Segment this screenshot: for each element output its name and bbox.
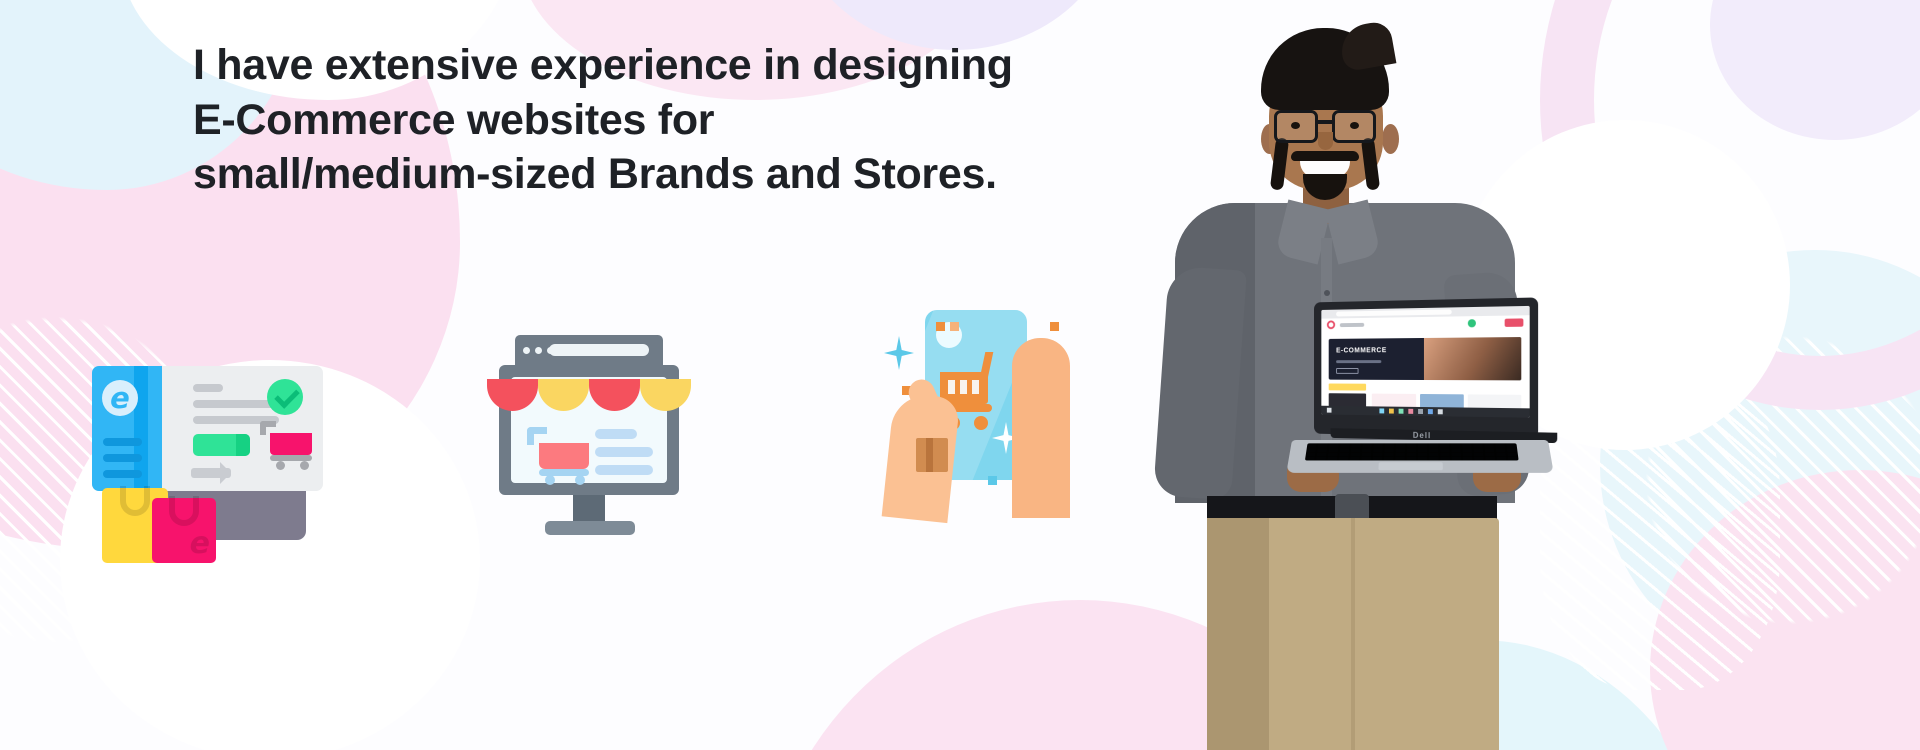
site-navbar: [1321, 315, 1529, 334]
sparkle-icon: [884, 336, 914, 370]
content-line: [193, 400, 279, 408]
accent-square: [988, 476, 997, 485]
browser-dot: [523, 347, 530, 354]
arrow-icon: [191, 468, 231, 478]
monitor-stand: [573, 495, 605, 523]
status-dot-icon: [1468, 319, 1476, 327]
shopping-cart-icon: [527, 427, 589, 479]
hand-right: [1012, 338, 1070, 518]
heading-line-3: small/medium-sized Brands and Stores.: [193, 147, 1113, 202]
page-title: I have extensive experience in designing…: [193, 38, 1113, 202]
online-storefront-illustration: [487, 335, 692, 540]
accent-square: [950, 322, 959, 331]
storefront-text-line: [595, 429, 637, 439]
glasses-bridge: [1315, 120, 1335, 124]
laptop-keyboard[interactable]: [1305, 443, 1519, 460]
trousers-seam: [1351, 518, 1355, 750]
browser-url-bar[interactable]: [549, 344, 649, 356]
shopping-cart-icon: [260, 421, 312, 469]
storefront-text-line: [595, 465, 653, 475]
os-taskbar: [1321, 406, 1529, 418]
storefront-text-line: [595, 447, 653, 457]
mobile-shopping-illustration: [880, 300, 1080, 515]
heading-line-1: I have extensive experience in designing: [193, 38, 1113, 93]
ear-right: [1382, 124, 1399, 154]
sidebar-menu-item: [103, 470, 142, 478]
banner-subtitle: [1336, 360, 1381, 363]
nose: [1318, 132, 1333, 150]
brand-e-icon: e: [102, 380, 138, 416]
shopping-bag-pink: e: [152, 498, 216, 563]
browser-address-bar[interactable]: [1336, 309, 1452, 316]
sidebar-menu-item: [103, 438, 142, 446]
heading-line-2: E-Commerce websites for: [193, 93, 1113, 148]
site-promo-strip: [1329, 384, 1366, 391]
awning-icon: [487, 363, 691, 411]
laptop-device: E-COMMERCE: [1290, 300, 1550, 480]
accent-square: [1050, 322, 1059, 331]
site-cta-button[interactable]: [1505, 318, 1524, 327]
site-logo-icon: [1327, 320, 1335, 329]
laptop-base: [1286, 440, 1553, 473]
content-line: [193, 384, 223, 392]
site-hero-banner: E-COMMERCE: [1329, 337, 1522, 380]
check-badge-icon: [267, 379, 303, 415]
shop-dashboard-illustration: e e: [78, 358, 323, 563]
site-nav-link[interactable]: [1340, 323, 1364, 327]
eye-right: [1350, 122, 1359, 129]
moustache: [1291, 151, 1359, 161]
sidebar-menu-item: [103, 454, 142, 462]
laptop-lid: E-COMMERCE: [1314, 297, 1538, 438]
laptop-trackpad[interactable]: [1378, 462, 1443, 470]
eye-left: [1291, 122, 1300, 129]
monitor-foot: [545, 521, 635, 535]
banner-cta-button[interactable]: [1336, 368, 1358, 374]
browser-dot: [535, 347, 542, 354]
package-box-icon: [916, 438, 948, 472]
accent-square: [936, 322, 945, 331]
arm-left: [1153, 266, 1247, 501]
hair-quiff: [1338, 20, 1397, 72]
hero-banner: I have extensive experience in designing…: [0, 0, 1920, 750]
dashboard-action-button[interactable]: [193, 434, 250, 456]
laptop-screen: E-COMMERCE: [1321, 306, 1529, 418]
banner-photo: [1424, 337, 1521, 380]
trousers-shadow: [1207, 518, 1269, 750]
banner-title: E-COMMERCE: [1336, 347, 1387, 354]
